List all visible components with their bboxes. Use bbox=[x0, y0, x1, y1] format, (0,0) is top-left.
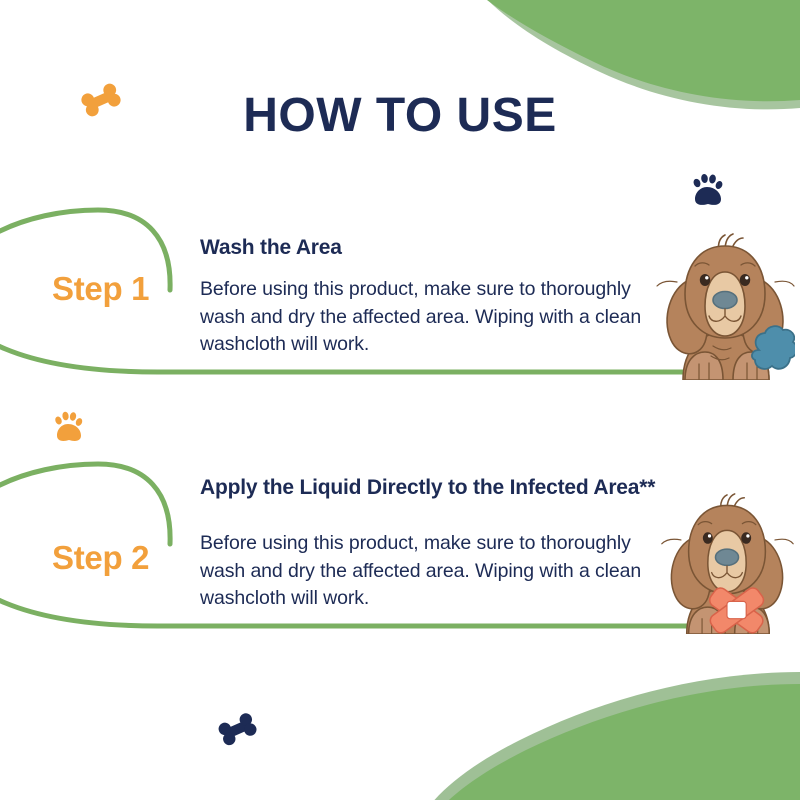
bone-navy-icon bbox=[216, 710, 260, 748]
green-blob-bottom-right bbox=[425, 672, 800, 800]
bandage-cross-shape bbox=[707, 585, 766, 634]
page-title: HOW TO USE bbox=[0, 88, 800, 143]
step-2-label: Step 2 bbox=[52, 539, 149, 577]
step-1-body-text: Before using this product, make sure to … bbox=[200, 276, 670, 359]
poster-canvas: HOW TO USE Step 1 Wash the Area Before u… bbox=[0, 0, 800, 800]
paw-navy-icon bbox=[690, 172, 724, 208]
dog-with-bandage-icon bbox=[657, 492, 797, 634]
dog-with-blue-toy-icon bbox=[655, 232, 795, 380]
step-2-body-text: Before using this product, make sure to … bbox=[200, 530, 670, 613]
step-1-heading: Wash the Area bbox=[200, 235, 670, 261]
blue-toy-shape bbox=[752, 326, 795, 369]
step-2-heading: Apply the Liquid Directly to the Infecte… bbox=[200, 475, 670, 501]
step-1-label: Step 1 bbox=[52, 270, 149, 308]
paw-orange-icon bbox=[52, 410, 84, 444]
